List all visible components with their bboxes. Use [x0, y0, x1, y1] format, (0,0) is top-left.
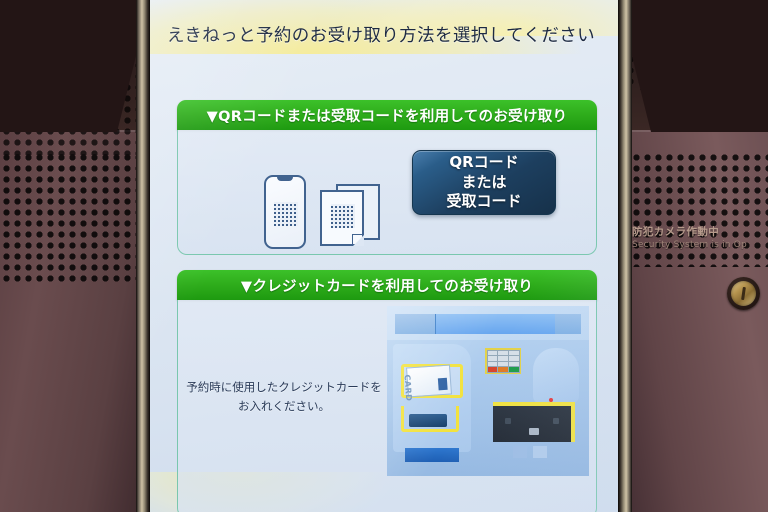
security-notice: 防犯カメラ作動中 Security System is in Op [618, 224, 768, 250]
kiosk-body-right: 防犯カメラ作動中 Security System is in Op [618, 0, 768, 512]
qr-code-icon [274, 202, 298, 226]
ticket-machine-illustration: CARD [387, 306, 589, 476]
key-lock-icon[interactable] [727, 277, 760, 310]
card-label: CARD [403, 374, 414, 401]
page-title: えきねっと予約のお受け取り方法を選択してください [167, 22, 595, 47]
ticket-tray [493, 402, 575, 442]
security-notice-en: Security System is in Op [632, 240, 768, 250]
keypad-key [488, 351, 498, 356]
option-card-qr[interactable]: ▼QRコードまたは受取コードを利用してのお受け取り QRコー [177, 100, 597, 255]
option-header-qr: ▼QRコードまたは受取コードを利用してのお受け取り [177, 100, 597, 130]
machine-arm [533, 348, 579, 404]
keypad-key-cancel [488, 367, 498, 372]
qr-button-line1: QRコード [449, 153, 518, 173]
lock-keyhole [741, 287, 746, 300]
keypad-key [488, 356, 498, 361]
qr-code-button[interactable]: QRコード または 受取コード [412, 150, 556, 215]
screen-trim-right [618, 0, 632, 512]
machine-keypad-icon [485, 348, 521, 374]
option-body-credit: 予約時に使用したクレジットカードを お入れください。 [177, 300, 597, 512]
keypad-key [509, 362, 519, 367]
credit-instruction-line2: お入れください。 [186, 397, 382, 416]
tray-marker [529, 428, 539, 435]
keypad-key [509, 351, 519, 356]
keypad-key [488, 362, 498, 367]
credit-instruction-line1: 予約時に使用したクレジットカードを [186, 378, 382, 397]
keypad-key [498, 351, 508, 356]
tray-marker [505, 418, 511, 424]
option-card-credit[interactable]: ▼クレジットカードを利用してのお受け取り 予約時に使用したクレジットカードを お… [177, 270, 597, 512]
qr-button-line3: 受取コード [446, 192, 521, 212]
ticket-slot [409, 414, 447, 427]
keypad-key-confirm [509, 367, 519, 372]
option-body-qr: QRコード または 受取コード [177, 130, 597, 255]
option-header-credit: ▼クレジットカードを利用してのお受け取り [177, 270, 597, 300]
card-chip-icon [438, 378, 448, 391]
security-notice-jp: 防犯カメラ作動中 [632, 224, 768, 239]
qr-illustration [264, 172, 384, 252]
keypad-key [498, 356, 508, 361]
machine-top-bar-highlight [435, 314, 555, 334]
smartphone-icon [264, 175, 306, 249]
lock-cylinder [731, 281, 756, 306]
tray-led-icon [549, 398, 553, 402]
paper-front [320, 190, 364, 246]
tray-marker [553, 418, 559, 424]
speaker-grille-icon [0, 152, 150, 282]
phone-notch [277, 176, 293, 181]
screen-trim-left [136, 0, 150, 512]
credit-card-instruction: 予約時に使用したクレジットカードを お入れください。 [186, 378, 382, 416]
kiosk-body-left [0, 0, 150, 512]
qr-button-line2: または [461, 173, 506, 193]
touchscreen[interactable]: えきねっと予約のお受け取り方法を選択してください ▼QRコードまたは受取コードを… [150, 0, 618, 512]
keypad-key [498, 362, 508, 367]
machine-blue-panel [405, 448, 459, 462]
credit-card-icon: CARD [406, 365, 452, 398]
qr-code-icon [331, 204, 355, 228]
machine-button [513, 446, 527, 458]
keypad-key-correct [498, 367, 508, 372]
machine-button [533, 446, 547, 458]
keypad-keys [487, 350, 520, 373]
paper-tickets-icon [320, 184, 382, 246]
kiosk-screenshot: 防犯カメラ作動中 Security System is in Op えきねっと予… [0, 0, 768, 512]
keypad-key [509, 356, 519, 361]
